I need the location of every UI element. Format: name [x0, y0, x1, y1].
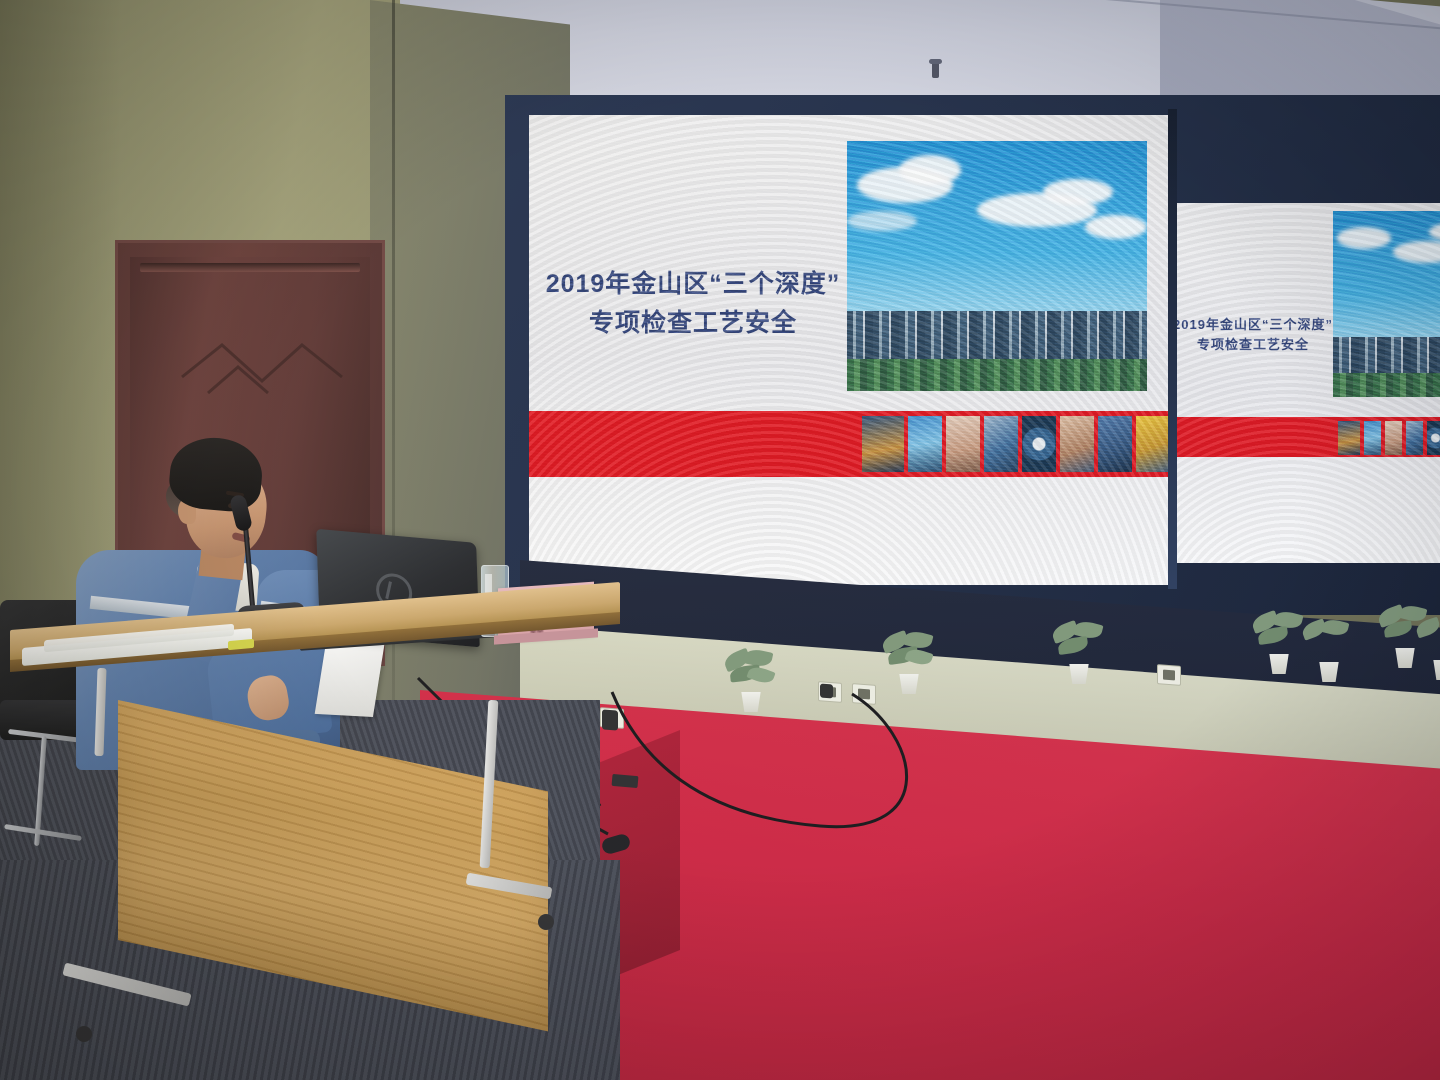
slide-photo-petrochemical: [847, 141, 1147, 391]
potted-plant: [1250, 612, 1306, 674]
greenery-band: [1333, 373, 1440, 397]
potted-plant: [1300, 620, 1356, 682]
slide-canvas: 2019年金山区“三个深度” 专项检查工艺安全: [1177, 203, 1440, 563]
thumbnail: [1059, 415, 1095, 473]
desk-caster: [76, 1026, 92, 1042]
thumbnail: [1337, 420, 1361, 456]
thumbnail: [1426, 420, 1440, 456]
sprinkler-icon: [932, 62, 939, 78]
slide-thumbnail-strip: [1337, 420, 1440, 456]
slide-thumbnail-strip: [861, 415, 1169, 473]
slide-title-line1: 2019年金山区“三个深度”: [543, 265, 843, 304]
door-groove: [140, 263, 360, 272]
cable-adapter-box: [612, 774, 639, 788]
presenter-hair: [167, 434, 265, 514]
thumbnail: [945, 415, 981, 473]
thumbnail: [1405, 420, 1424, 456]
main-led-screen[interactable]: 2019年金山区“三个深度” 专项检查工艺安全: [529, 115, 1169, 585]
potted-plant: [1414, 618, 1440, 680]
thumbnail: [983, 415, 1019, 473]
thumbnail: [861, 415, 905, 473]
secondary-led-screen[interactable]: 2019年金山区“三个深度” 专项检查工艺安全: [1177, 203, 1440, 563]
slide-title-line2: 专项检查工艺安全: [1177, 335, 1333, 355]
slide-photo-petrochemical: [1333, 211, 1440, 397]
slide-title: 2019年金山区“三个深度” 专项检查工艺安全: [543, 265, 843, 343]
desk-caster: [538, 914, 554, 930]
screen-panel-seam: [1168, 109, 1177, 589]
thumbnail: [907, 415, 943, 473]
power-outlet[interactable]: [1157, 664, 1181, 686]
led-video-wall: 2019年金山区“三个深度” 专项检查工艺安全: [505, 95, 1440, 615]
slide-canvas: 2019年金山区“三个深度” 专项检查工艺安全: [529, 115, 1169, 585]
greenery-band: [847, 359, 1147, 392]
slide-title-line1: 2019年金山区“三个深度”: [1177, 315, 1333, 335]
thumbnail: [1097, 415, 1133, 473]
thumbnail: [1363, 420, 1382, 456]
conference-room-photo: 2019年金山区“三个深度” 专项检查工艺安全: [0, 0, 1440, 1080]
door-chevron-icon: [178, 337, 348, 397]
slide-title: 2019年金山区“三个深度” 专项检查工艺安全: [1177, 315, 1333, 355]
thumbnail: [1135, 415, 1169, 473]
thumbnail: [1021, 415, 1057, 473]
slide-title-line2: 专项检查工艺安全: [543, 304, 843, 343]
thumbnail: [1384, 420, 1403, 456]
